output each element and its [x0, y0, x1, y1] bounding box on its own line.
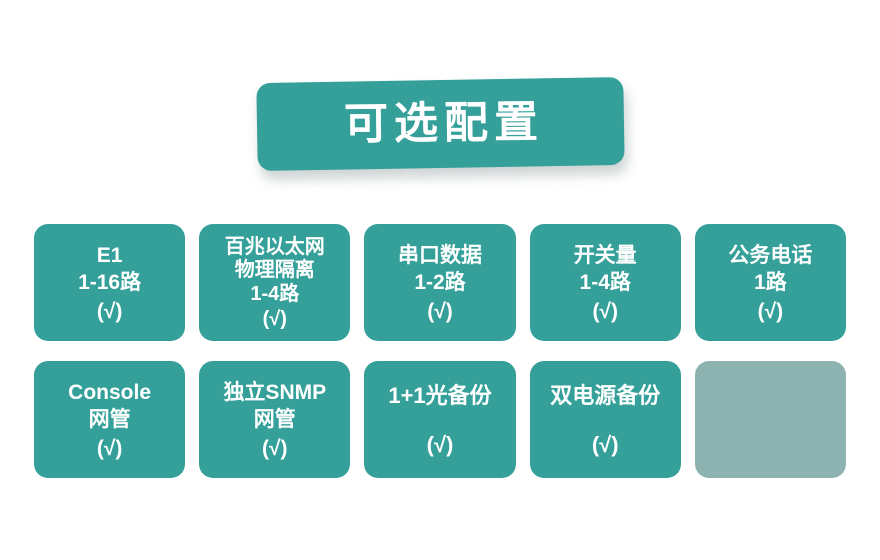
- option-card-line: E1: [97, 242, 123, 269]
- header-banner-wrapper: 可选配置: [257, 80, 624, 168]
- option-card-line: 网管: [89, 406, 131, 433]
- option-card-line: 百兆以太网: [225, 236, 325, 260]
- option-card-line: 公务电话: [728, 242, 812, 269]
- option-card-e1[interactable]: E11-16路(√): [34, 224, 185, 341]
- option-card-dual-power-backup[interactable]: 双电源备份(√): [530, 361, 681, 478]
- option-card-optical-backup[interactable]: 1+1光备份(√): [364, 361, 515, 478]
- poster-root: 可选配置 E11-16路(√)百兆以太网物理隔离1-4路(√)串口数据1-2路(…: [0, 0, 880, 560]
- check-mark-icon: (√): [427, 298, 453, 325]
- check-mark-icon: (√): [592, 298, 618, 325]
- option-card-text: 双电源备份(√): [534, 382, 677, 458]
- option-card-official-phone[interactable]: 公务电话1路(√): [695, 224, 846, 341]
- option-card-line: 独立SNMP: [223, 379, 326, 406]
- option-card-fast-ethernet-isolation[interactable]: 百兆以太网物理隔离1-4路(√): [199, 224, 350, 341]
- option-card-line: 网管: [254, 406, 296, 433]
- option-card-line: 双电源备份: [550, 382, 660, 411]
- check-mark-icon: (√): [97, 298, 123, 325]
- option-card-line: 1-4路: [580, 269, 631, 296]
- option-card-line: 1-4路: [250, 283, 299, 307]
- page-title: 可选配置: [337, 101, 543, 147]
- option-card-line: 1-2路: [414, 269, 465, 296]
- check-mark-icon: (√): [97, 435, 123, 462]
- option-card-text: 开关量1-4路(√): [534, 242, 677, 326]
- option-card-line: 物理隔离: [235, 259, 315, 283]
- option-card-line: 串口数据: [398, 242, 482, 269]
- option-card-text: Console网管(√): [38, 379, 181, 463]
- option-card-console-management[interactable]: Console网管(√): [34, 361, 185, 478]
- option-card-text: 独立SNMP网管(√): [203, 379, 346, 463]
- option-card-serial-data[interactable]: 串口数据1-2路(√): [364, 224, 515, 341]
- check-mark-icon: (√): [427, 431, 454, 459]
- option-card-line: 1路: [754, 269, 787, 296]
- option-card-text: 公务电话1路(√): [699, 242, 842, 326]
- option-card-text: 串口数据1-2路(√): [368, 242, 511, 326]
- check-mark-icon: (√): [592, 431, 619, 459]
- option-card-text: 1+1光备份(√): [368, 382, 511, 458]
- option-card-switch-quantity[interactable]: 开关量1-4路(√): [530, 224, 681, 341]
- option-card-independent-snmp[interactable]: 独立SNMP网管(√): [199, 361, 350, 478]
- check-mark-icon: (√): [758, 298, 784, 325]
- option-card-empty: [695, 361, 846, 478]
- option-card-text: E11-16路(√): [38, 242, 181, 326]
- option-card-line: Console: [68, 379, 151, 406]
- check-mark-icon: (√): [262, 435, 288, 462]
- check-mark-icon: (√): [263, 308, 287, 332]
- option-card-line: 开关量: [574, 242, 637, 269]
- option-card-text: 百兆以太网物理隔离1-4路(√): [203, 236, 346, 331]
- header-banner: 可选配置: [256, 77, 624, 171]
- option-card-line: 1+1光备份: [388, 382, 491, 411]
- option-card-grid: E11-16路(√)百兆以太网物理隔离1-4路(√)串口数据1-2路(√)开关量…: [34, 224, 846, 478]
- option-card-line: 1-16路: [78, 269, 141, 296]
